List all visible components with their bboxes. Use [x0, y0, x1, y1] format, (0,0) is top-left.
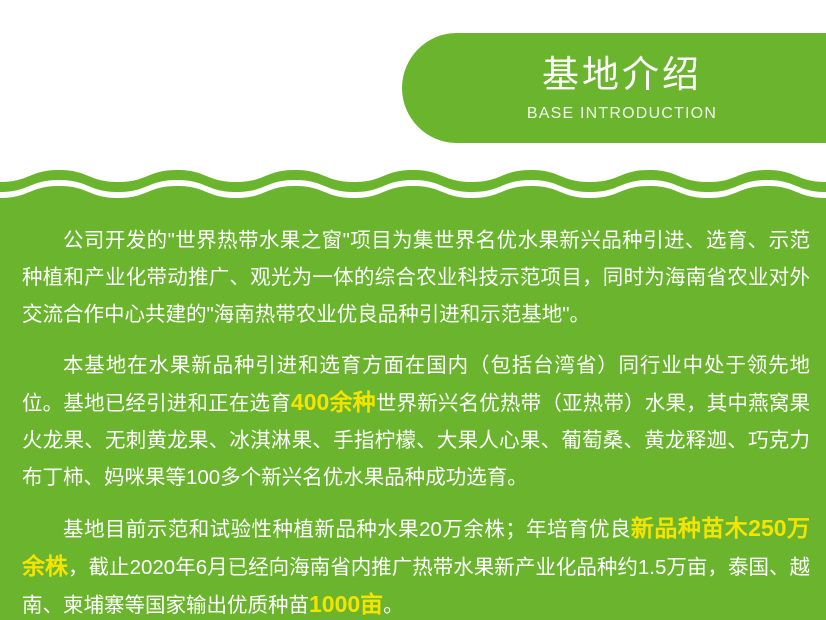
- paragraph-2-highlight-1: 400余种: [291, 389, 376, 415]
- paragraph-2: 本基地在水果新品种引进和选育方面在国内（包括台湾省）同行业中处于领先地位。基地已…: [22, 347, 810, 496]
- paragraph-3: 基地目前示范和试验性种植新品种水果20万余株；年培育优良新品种苗木250万余株，…: [22, 510, 810, 620]
- paragraph-1: 公司开发的"世界热带水果之窗"项目为集世界名优水果新兴品种引进、选育、示范种植和…: [22, 222, 810, 333]
- header-banner: 基地介绍 BASE INTRODUCTION: [402, 33, 826, 143]
- body-text-container: 公司开发的"世界热带水果之窗"项目为集世界名优水果新兴品种引进、选育、示范种植和…: [0, 208, 826, 620]
- paragraph-3-text-4: 。: [383, 594, 404, 617]
- content-panel: 公司开发的"世界热带水果之窗"项目为集世界名优水果新兴品种引进、选育、示范种植和…: [0, 164, 826, 620]
- slide-root: 基地介绍 BASE INTRODUCTION 公司开发的"世界热带水果之窗"项目…: [0, 0, 826, 620]
- paragraph-3-highlight-3: 1000亩: [309, 591, 383, 617]
- paragraph-3-text-0: 基地目前示范和试验性种植新品种水果20万余株；年培育优良: [63, 518, 631, 541]
- paragraph-1-text-0: 公司开发的"世界热带水果之窗"项目为集世界名优水果新兴品种引进、选育、示范种植和…: [22, 229, 810, 326]
- page-title: 基地介绍: [542, 53, 702, 97]
- paragraph-3-text-2: ，截止2020年6月已经向海南省内推广热带水果新产业化品种约1.5万亩，泰国、越…: [22, 556, 810, 617]
- page-subtitle: BASE INTRODUCTION: [527, 104, 717, 124]
